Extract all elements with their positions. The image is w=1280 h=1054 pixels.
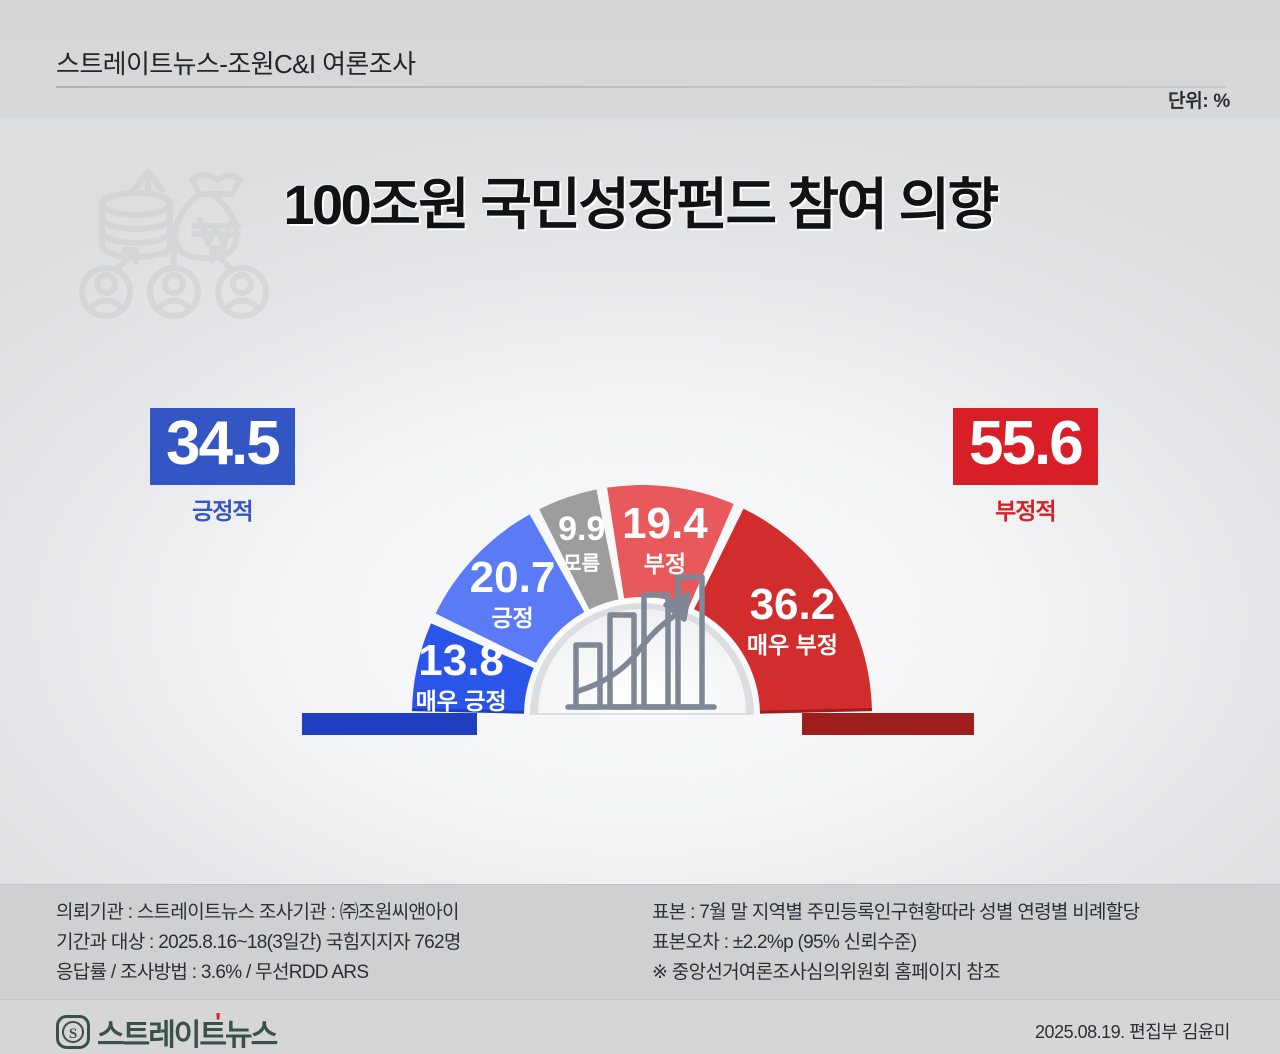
half-donut-chart: 13.8매우 긍정20.7긍정9.9모름19.4부정36.2매우 부정	[262, 355, 1022, 755]
chart-slice-value: 19.4	[622, 499, 708, 548]
chart-slice-label: 매우 긍정	[416, 688, 507, 714]
footer-methodology-left: 의뢰기관 : 스트레이트뉴스 조사기관 : ㈜조원씨앤아이 기간과 대상 : 2…	[56, 898, 461, 988]
negative-summary-value: 55.6	[953, 408, 1098, 485]
footer-left-line: 기간과 대상 : 2025.8.16~18(3일간) 국힘지지자 762명	[56, 928, 461, 958]
logo-accent-mark-icon: '	[215, 1007, 219, 1038]
header-divider	[56, 86, 1226, 88]
positive-summary-badge: 34.5 긍정적	[150, 408, 295, 526]
chart-slice-label: 부정	[644, 551, 686, 577]
chart-slice-label: 긍정	[491, 605, 533, 631]
chart-slice-label: 매우 부정	[747, 632, 838, 658]
chart-slice-label: 모름	[563, 552, 600, 575]
footer-methodology-right: 표본 : 7월 말 지역별 주민등록인구현황따라 성별 연령별 비례할당 표본오…	[652, 898, 1139, 988]
infographic-canvas: 스트레이트뉴스-조원C&I 여론조사 단위: %	[0, 0, 1280, 1054]
page-title: 100조원 국민성장펀드 참여 의향	[0, 160, 1280, 241]
footer-right-line: 표본 : 7월 말 지역별 주민등록인구현황따라 성별 연령별 비례할당	[652, 898, 1139, 928]
chart-slice-value: 20.7	[470, 553, 556, 602]
chart-3d-base	[302, 713, 974, 735]
brand-logo-text: 스트레이트뉴스 '	[97, 1010, 276, 1054]
source-title: 스트레이트뉴스-조원C&I 여론조사	[56, 44, 415, 81]
footer-right-line: ※ 중앙선거여론조사심의위원회 홈페이지 참조	[652, 958, 1139, 988]
brand-logo-label: 스트레이트뉴스	[97, 1019, 276, 1052]
footer-left-line: 의뢰기관 : 스트레이트뉴스 조사기관 : ㈜조원씨앤아이	[56, 898, 461, 928]
footer-right-line: 표본오차 : ±2.2%p (95% 신뢰수준)	[652, 928, 1139, 958]
chart-slice-value: 9.9	[558, 510, 605, 548]
negative-summary-badge: 55.6 부정적	[953, 408, 1098, 526]
straight-news-mark-icon: S	[56, 1015, 90, 1049]
logo-mark-letter: S	[69, 1026, 77, 1042]
positive-summary-value: 34.5	[150, 408, 295, 485]
footer-left-line: 응답률 / 조사방법 : 3.6% / 무선RDD ARS	[56, 958, 461, 988]
chart-slice-value: 13.8	[418, 636, 504, 685]
positive-summary-label: 긍정적	[150, 492, 295, 526]
byline: 2025.08.19. 편집부 김윤미	[1035, 1018, 1230, 1044]
negative-summary-label: 부정적	[953, 492, 1098, 526]
brand-logo: S 스트레이트뉴스 '	[56, 1010, 276, 1054]
chart-slice-value: 36.2	[750, 580, 836, 629]
unit-label: 단위: %	[1168, 86, 1230, 113]
chart-svg: 13.8매우 긍정20.7긍정9.9모름19.4부정36.2매우 부정	[262, 355, 1022, 755]
